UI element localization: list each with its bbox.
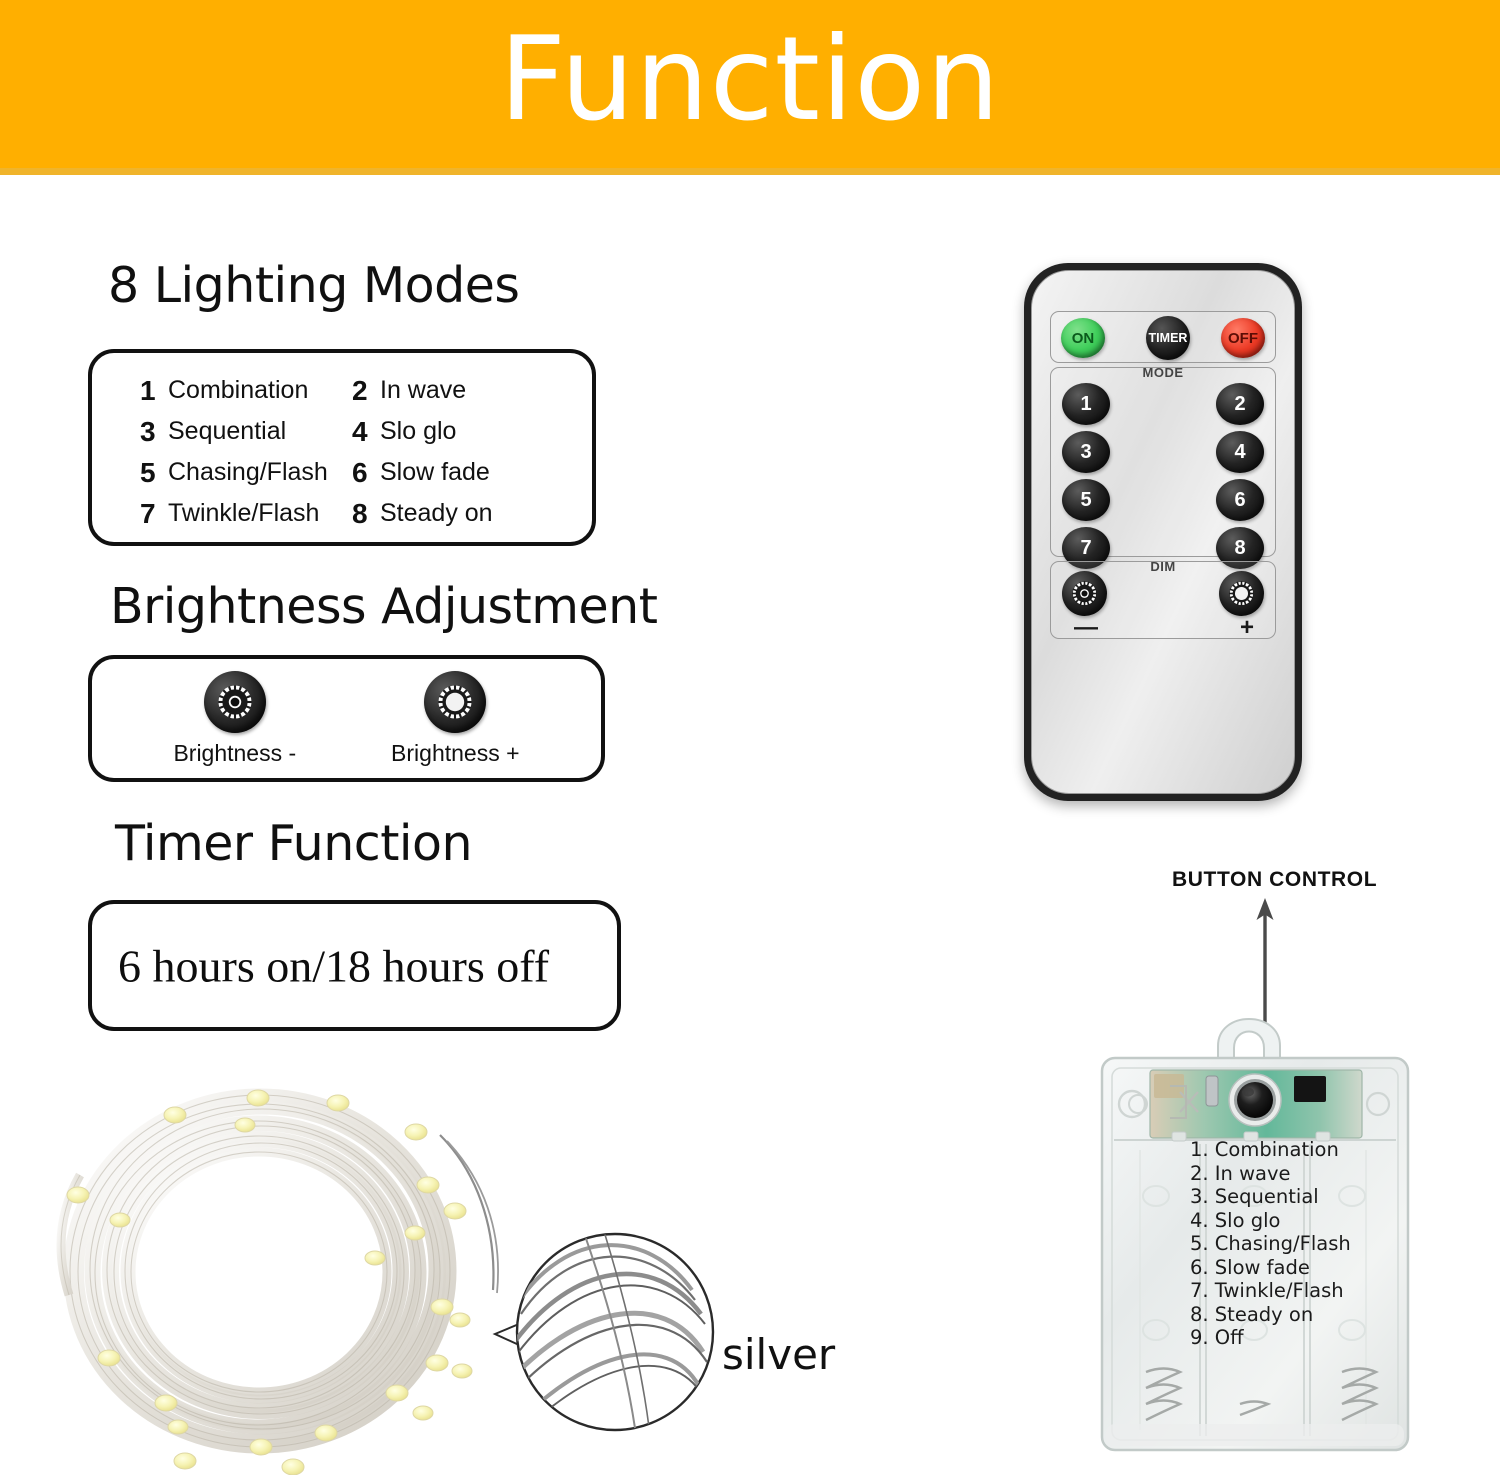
battery-mode-7: 7. Twinkle/Flash xyxy=(1190,1279,1380,1303)
mode-label: Combination xyxy=(168,376,308,405)
mode-item-8: 8 Steady on xyxy=(352,493,590,534)
battery-box-mode-list: 1. Combination 2. In wave 3. Sequential … xyxy=(1190,1138,1380,1350)
mode-number: 3 xyxy=(140,416,157,448)
header-banner: Function xyxy=(0,0,1500,168)
lighting-modes-grid: 1 Combination 2 In wave 3 Sequential 4 S… xyxy=(140,370,590,534)
lighting-modes-heading: 8 Lighting Modes xyxy=(108,257,519,314)
brightness-heading: Brightness Adjustment xyxy=(110,578,657,635)
mode-label: Chasing/Flash xyxy=(168,458,328,487)
mode-label: Slow fade xyxy=(380,458,490,487)
mode-label: Slo glo xyxy=(380,417,456,446)
banner-bottom-edge xyxy=(0,168,1500,175)
page-title: Function xyxy=(499,22,1000,138)
battery-mode-5: 5. Chasing/Flash xyxy=(1190,1232,1380,1256)
brightness-plus-label: Brightness + xyxy=(391,740,520,767)
battery-mode-4: 4. Slo glo xyxy=(1190,1209,1380,1233)
remote-mode-button-3[interactable]: 3 xyxy=(1062,431,1110,473)
timer-heading: Timer Function xyxy=(115,815,472,872)
mode-item-7: 7 Twinkle/Flash xyxy=(140,493,352,534)
mode-label: Sequential xyxy=(168,417,286,446)
timer-box: 6 hours on/18 hours off xyxy=(88,900,621,1031)
remote-mode-button-6[interactable]: 6 xyxy=(1216,479,1264,521)
mode-number: 5 xyxy=(140,457,157,489)
remote-dim-minus-sign: — xyxy=(1074,616,1098,640)
mode-number: 2 xyxy=(352,375,369,407)
mode-item-2: 2 In wave xyxy=(352,370,590,411)
mode-label: Steady on xyxy=(380,499,493,528)
brightness-minus-icon xyxy=(204,671,266,733)
remote-mode-button-1[interactable]: 1 xyxy=(1062,383,1110,425)
remote-off-button[interactable]: OFF xyxy=(1221,318,1265,358)
mode-item-3: 3 Sequential xyxy=(140,411,352,452)
remote-mode-button-5[interactable]: 5 xyxy=(1062,479,1110,521)
remote-power-panel: ON TIMER OFF xyxy=(1050,311,1276,363)
remote-control: ON TIMER OFF MODE 1 2 3 4 5 6 7 8 DIM xyxy=(1024,263,1302,801)
brightness-box: Brightness - xyxy=(88,655,605,782)
battery-mode-2: 2. In wave xyxy=(1190,1162,1380,1186)
remote-dim-plus-button[interactable] xyxy=(1219,571,1264,616)
brightness-plus-cell: Brightness + xyxy=(391,671,520,767)
remote-face: ON TIMER OFF MODE 1 2 3 4 5 6 7 8 DIM xyxy=(1031,270,1295,794)
remote-timer-button[interactable]: TIMER xyxy=(1146,316,1190,360)
mode-item-4: 4 Slo glo xyxy=(352,411,590,452)
brightness-minus-label: Brightness - xyxy=(173,740,296,767)
button-control-callout-label: BUTTON CONTROL xyxy=(1172,868,1377,892)
silver-wire-label: silver xyxy=(722,1330,835,1379)
brightness-minus-cell: Brightness - xyxy=(173,671,296,767)
battery-mode-9: 9. Off xyxy=(1190,1326,1380,1350)
battery-box-image: 1. Combination 2. In wave 3. Sequential … xyxy=(1094,1000,1416,1460)
lighting-modes-box: 1 Combination 2 In wave 3 Sequential 4 S… xyxy=(88,349,596,546)
mode-number: 7 xyxy=(140,498,157,530)
mode-item-6: 6 Slow fade xyxy=(352,452,590,493)
mode-item-1: 1 Combination xyxy=(140,370,352,411)
mode-number: 4 xyxy=(352,416,369,448)
remote-mode-button-4[interactable]: 4 xyxy=(1216,431,1264,473)
mode-number: 6 xyxy=(352,457,369,489)
remote-mode-button-2[interactable]: 2 xyxy=(1216,383,1264,425)
mode-number: 1 xyxy=(140,375,157,407)
mode-item-5: 5 Chasing/Flash xyxy=(140,452,352,493)
mode-label: In wave xyxy=(380,376,466,405)
mode-number: 8 xyxy=(352,498,369,530)
string-light-coil-image xyxy=(45,1075,525,1475)
wire-magnifier-callout xyxy=(487,1218,719,1450)
remote-on-button[interactable]: ON xyxy=(1061,318,1105,358)
battery-mode-6: 6. Slow fade xyxy=(1190,1256,1380,1280)
remote-dim-plus-sign: + xyxy=(1240,616,1254,640)
battery-mode-1: 1. Combination xyxy=(1190,1138,1380,1162)
battery-mode-8: 8. Steady on xyxy=(1190,1303,1380,1327)
timer-value: 6 hours on/18 hours off xyxy=(118,939,549,992)
brightness-plus-icon xyxy=(424,671,486,733)
battery-mode-3: 3. Sequential xyxy=(1190,1185,1380,1209)
mode-label: Twinkle/Flash xyxy=(168,499,319,528)
remote-dim-minus-button[interactable] xyxy=(1062,571,1107,616)
